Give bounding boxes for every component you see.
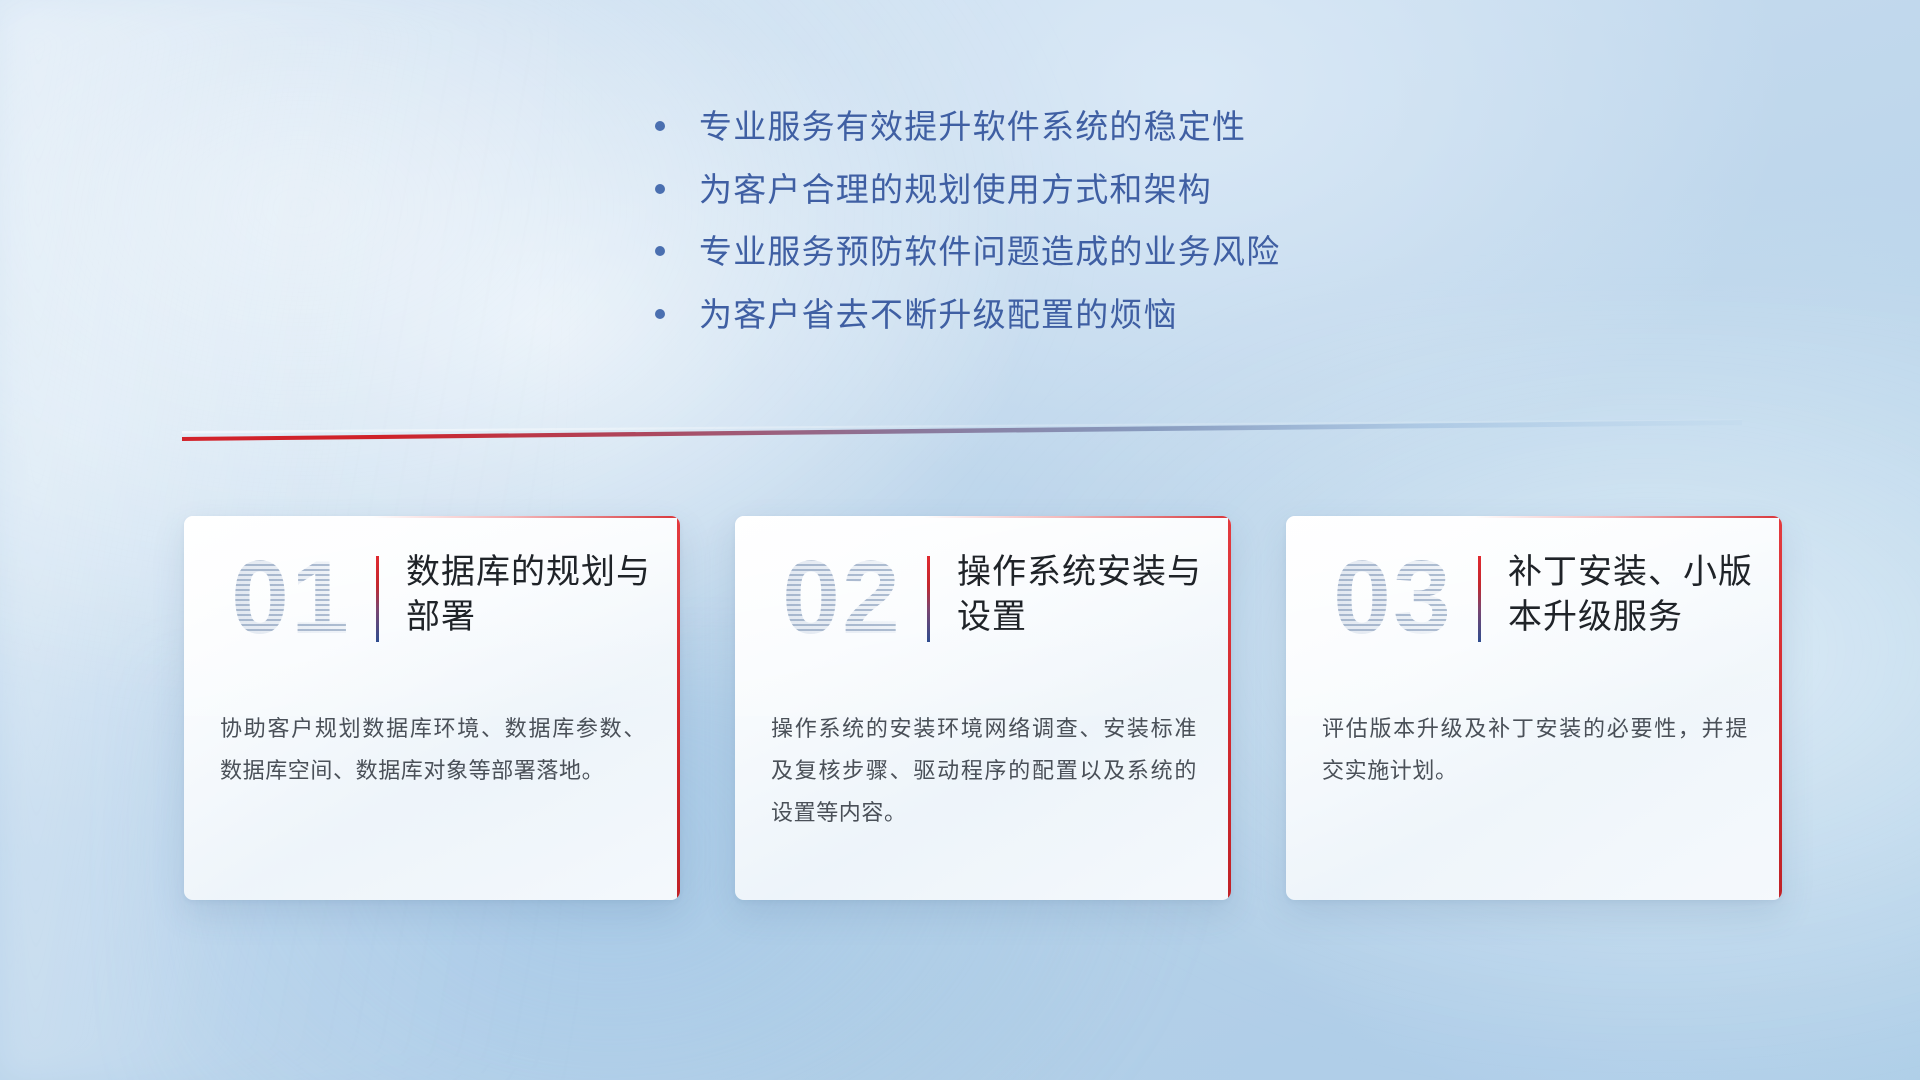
card-accent-top-edge <box>1474 516 1782 518</box>
card-header: 02 操作系统安装与设置 <box>735 540 1231 680</box>
service-card-02[interactable]: 02 操作系统安装与设置 操作系统的安装环境网络调查、安装标准及复核步骤、驱动程… <box>735 516 1231 900</box>
divider-wedge-icon <box>182 418 1742 442</box>
bullet-dot-icon <box>655 184 665 194</box>
bullet-text: 专业服务有效提升软件系统的稳定性 <box>699 110 1246 145</box>
card-accent-top-edge <box>923 516 1231 518</box>
card-divider-bar <box>376 556 379 642</box>
card-number-watermark: 01 <box>206 540 376 656</box>
benefit-bullet-list: 专业服务有效提升软件系统的稳定性 为客户合理的规划使用方式和架构 专业服务预防软… <box>655 110 1475 361</box>
bullet-text: 为客户合理的规划使用方式和架构 <box>699 173 1212 208</box>
card-title: 数据库的规划与部署 <box>406 540 680 640</box>
bullet-dot-icon <box>655 246 665 256</box>
card-description: 操作系统的安装环境网络调查、安装标准及复核步骤、驱动程序的配置以及系统的设置等内… <box>771 708 1197 835</box>
list-item: 专业服务预防软件问题造成的业务风险 <box>655 235 1475 270</box>
section-divider <box>182 418 1742 442</box>
list-item: 为客户省去不断升级配置的烦恼 <box>655 298 1475 333</box>
bullet-text: 为客户省去不断升级配置的烦恼 <box>699 298 1178 333</box>
card-description: 协助客户规划数据库环境、数据库参数、数据库空间、数据库对象等部署落地。 <box>220 708 646 792</box>
card-title: 补丁安装、小版本升级服务 <box>1508 540 1782 640</box>
bullet-dot-icon <box>655 121 665 131</box>
card-title: 操作系统安装与设置 <box>957 540 1231 640</box>
service-card-row: 01 数据库的规划与部署 协助客户规划数据库环境、数据库参数、数据库空间、数据库… <box>184 516 1784 918</box>
card-header: 01 数据库的规划与部署 <box>184 540 680 680</box>
list-item: 为客户合理的规划使用方式和架构 <box>655 173 1475 208</box>
service-card-01[interactable]: 01 数据库的规划与部署 协助客户规划数据库环境、数据库参数、数据库空间、数据库… <box>184 516 680 900</box>
card-number-watermark: 03 <box>1308 540 1478 656</box>
bullet-dot-icon <box>655 309 665 319</box>
bullet-text: 专业服务预防软件问题造成的业务风险 <box>699 235 1280 270</box>
card-divider-bar <box>927 556 930 642</box>
card-header: 03 补丁安装、小版本升级服务 <box>1286 540 1782 680</box>
list-item: 专业服务有效提升软件系统的稳定性 <box>655 110 1475 145</box>
card-accent-top-edge <box>372 516 680 518</box>
service-card-03[interactable]: 03 补丁安装、小版本升级服务 评估版本升级及补丁安装的必要性，并提交实施计划。 <box>1286 516 1782 900</box>
card-description: 评估版本升级及补丁安装的必要性，并提交实施计划。 <box>1322 708 1748 792</box>
card-divider-bar <box>1478 556 1481 642</box>
card-number-watermark: 02 <box>757 540 927 656</box>
